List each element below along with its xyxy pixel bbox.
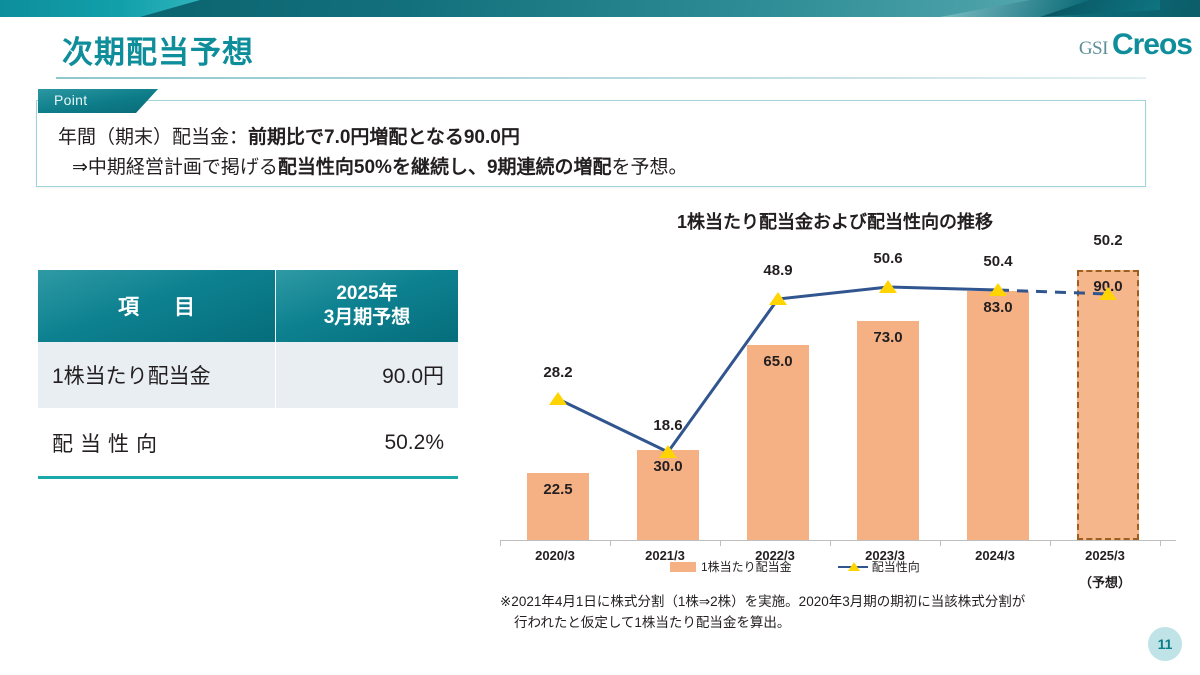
point-line-2: ⇒中期経営計画で掲げる配当性向50%を継続し、9期連続の増配を予想。 — [58, 153, 688, 183]
title-divider — [56, 77, 1146, 79]
line-marker-2022-03 — [769, 292, 787, 305]
line-label-2025-03: 50.2 — [1063, 232, 1153, 249]
table-header-forecast-line2: 3月期予想 — [324, 306, 411, 330]
x-axis-tick — [720, 540, 721, 546]
x-axis-tick — [610, 540, 611, 546]
legend-label-payout-ratio: 配当性向 — [872, 558, 920, 575]
line-marker-2025-03 — [1099, 287, 1117, 300]
line-label-2020-03: 28.2 — [513, 364, 603, 381]
line-marker-2023-03 — [879, 280, 897, 293]
point-line-2-plain-b: を予想。 — [612, 157, 688, 178]
chart-footnote-line-2: 行われたと仮定して1株当たり配当金を算出。 — [500, 613, 1180, 634]
table-cell-value: 90.0円 — [275, 342, 458, 408]
line-dashed-segment — [998, 290, 1108, 294]
chart-plot-area: 22.5 30.0 65.0 73.0 83.0 90.0 28.2 18.6 … — [500, 240, 1180, 540]
table-header-forecast: 2025年 3月期予想 — [275, 270, 458, 342]
x-axis-tick — [940, 540, 941, 546]
line-marker-2020-03 — [549, 392, 567, 405]
legend-line-marker-icon — [838, 562, 868, 572]
legend-bar-swatch-icon — [670, 562, 696, 572]
point-callout: Point 年間（期末）配当金：前期比で7.0円増配となる90.0円 ⇒中期経営… — [36, 89, 1146, 187]
logo-text-creos: Creos — [1112, 28, 1192, 62]
x-label-2025-03: 2025/3 — [1050, 548, 1160, 563]
x-axis-tick — [1050, 540, 1051, 546]
line-label-2024-03: 50.4 — [953, 253, 1043, 270]
page-number-badge: 11 — [1148, 627, 1182, 661]
point-badge-label: Point — [54, 92, 87, 108]
point-text-block: 年間（期末）配当金：前期比で7.0円増配となる90.0円 ⇒中期経営計画で掲げる… — [58, 123, 688, 183]
chart-footnote-line-1: ※2021年4月1日に株式分割（1株⇒2株）を実施。2020年3月期の期初に当該… — [500, 594, 1025, 609]
chart-legend: 1株当たり配当金 配当性向 — [670, 558, 920, 575]
x-label-2025-03-note: （予想） — [1050, 572, 1160, 591]
table-row: 配当性向 50.2% — [38, 410, 458, 476]
table-cell-label: 1株当たり配当金 — [38, 342, 275, 408]
line-marker-2021-03 — [659, 445, 677, 458]
legend-label-dividend: 1株当たり配当金 — [701, 558, 792, 575]
legend-item-dividend: 1株当たり配当金 — [670, 558, 792, 575]
chart-title: 1株当たり配当金および配当性向の推移 — [480, 208, 1190, 234]
table-cell-value: 50.2% — [275, 410, 458, 476]
point-line-1-plain: 年間（期末）配当金： — [58, 127, 248, 148]
chart-footnote: ※2021年4月1日に株式分割（1株⇒2株）を実施。2020年3月期の期初に当該… — [500, 592, 1180, 634]
decorative-header-band — [0, 0, 1200, 17]
slide: 次期配当予想 GSI Creos Point 年間（期末）配当金：前期比で7.0… — [0, 0, 1200, 675]
x-axis-tick — [830, 540, 831, 546]
x-axis-line — [500, 540, 1176, 541]
x-label-2020-03: 2020/3 — [500, 548, 610, 563]
legend-item-payout-ratio: 配当性向 — [838, 558, 920, 575]
payout-ratio-line — [500, 240, 1180, 540]
line-marker-2024-03 — [989, 283, 1007, 296]
line-label-2022-03: 48.9 — [733, 262, 823, 279]
point-line-2-plain-a: ⇒中期経営計画で掲げる — [72, 157, 278, 178]
table-cell-label: 配当性向 — [38, 410, 275, 476]
summary-table: 項 目 2025年 3月期予想 1株当たり配当金 90.0円 配当性向 50.2… — [38, 270, 458, 479]
table-header-row: 項 目 2025年 3月期予想 — [38, 270, 458, 342]
point-line-1: 年間（期末）配当金：前期比で7.0円増配となる90.0円 — [58, 123, 688, 153]
logo-text-gsi: GSI — [1079, 38, 1108, 60]
page-title: 次期配当予想 — [62, 27, 254, 72]
point-line-2-bold: 配当性向50%を継続し、9期連続の増配 — [278, 157, 612, 178]
table-bottom-rule — [38, 476, 458, 479]
line-label-2021-03: 18.6 — [623, 417, 713, 434]
brand-logo: GSI Creos — [1079, 28, 1192, 62]
point-line-1-bold: 前期比で7.0円増配となる90.0円 — [248, 127, 520, 148]
x-axis-tick — [500, 540, 501, 546]
table-header-forecast-line1: 2025年 — [336, 282, 397, 306]
line-label-2023-03: 50.6 — [843, 250, 933, 267]
chart-container: 1株当たり配当金および配当性向の推移 22.5 30.0 65.0 73.0 8… — [480, 200, 1190, 660]
table-header-item: 項 目 — [38, 270, 275, 342]
x-axis-tick — [1160, 540, 1161, 546]
table-row: 1株当たり配当金 90.0円 — [38, 342, 458, 408]
x-label-2024-03: 2024/3 — [940, 548, 1050, 563]
